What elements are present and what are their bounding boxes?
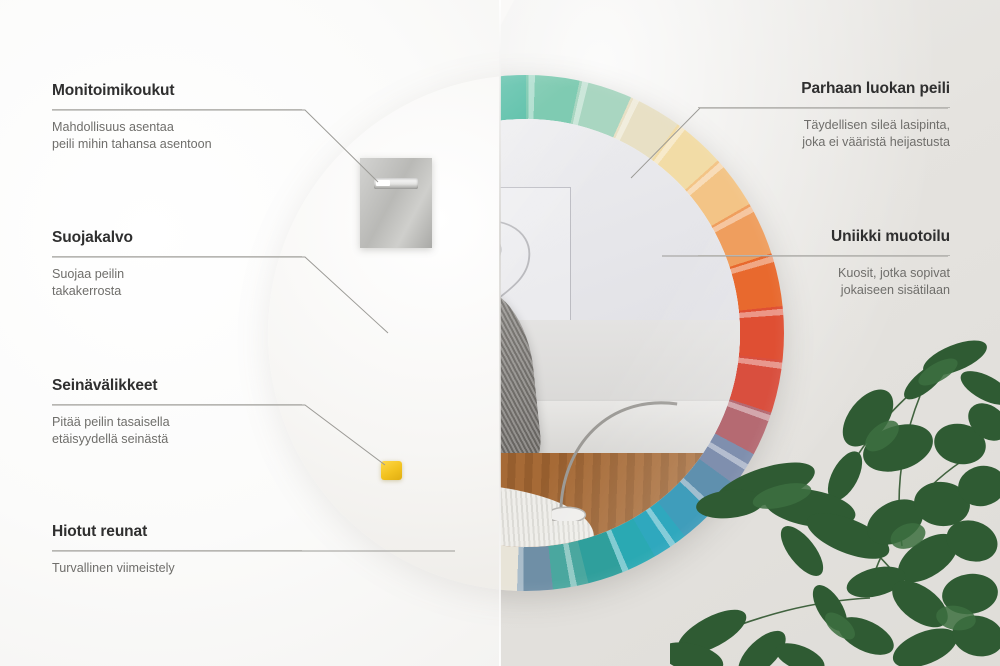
callout-title: Parhaan luokan peili: [698, 80, 950, 99]
callout-rule: [698, 255, 950, 256]
callout-title: Monitoimikoukut: [52, 82, 302, 101]
callout-title: Hiotut reunat: [52, 523, 302, 542]
callout-description-line1: Mahdollisuus asentaa: [52, 119, 302, 137]
infographic-canvas: Monitoimikoukut Mahdollisuus asentaa pei…: [0, 0, 1000, 666]
callout-parhaan-luokan-peili: Parhaan luokan peili Täydellisen sileä l…: [698, 80, 950, 152]
bracket-keyhole-slot: [374, 178, 418, 189]
wall-bracket-icon: [360, 158, 432, 248]
callout-description-line1: Suojaa peilin: [52, 266, 302, 284]
wall-spacer-icon: [381, 461, 402, 480]
decorative-foliage: [670, 336, 1000, 666]
callout-rule: [52, 404, 302, 405]
callout-rule: [52, 550, 302, 551]
callout-seinavalikkeet: Seinävälikkeet Pitää peilin tasaisella e…: [52, 377, 302, 449]
callout-uniikki-muotoilu: Uniikki muotoilu Kuosit, jotka sopivat j…: [698, 228, 950, 300]
callout-description-line2: joka ei vääristä heijastusta: [698, 134, 950, 152]
callout-description-line1: Turvallinen viimeistely: [52, 560, 302, 578]
callout-rule: [698, 107, 950, 108]
callout-monitoimikoukut: Monitoimikoukut Mahdollisuus asentaa pei…: [52, 82, 302, 154]
callout-suojakalvo: Suojakalvo Suojaa peilin takakerrosta: [52, 229, 302, 301]
callout-description-line2: etäisyydellä seinästä: [52, 431, 302, 449]
callout-description-line2: peili mihin tahansa asentoon: [52, 136, 302, 154]
callout-description-line1: Täydellisen sileä lasipinta,: [698, 117, 950, 135]
callout-description-line1: Kuosit, jotka sopivat: [698, 265, 950, 283]
callout-hiotut-reunat: Hiotut reunat Turvallinen viimeistely: [52, 523, 302, 577]
callout-description-line2: takakerrosta: [52, 283, 302, 301]
callout-title: Seinävälikkeet: [52, 377, 302, 396]
callout-title: Suojakalvo: [52, 229, 302, 248]
panel-divider: [499, 0, 501, 666]
callout-rule: [52, 256, 302, 257]
callout-rule: [52, 109, 302, 110]
callout-description-line2: jokaiseen sisätilaan: [698, 282, 950, 300]
callout-title: Uniikki muotoilu: [698, 228, 950, 247]
callout-description-line1: Pitää peilin tasaisella: [52, 414, 302, 432]
mirror-back-panel: [268, 75, 500, 591]
